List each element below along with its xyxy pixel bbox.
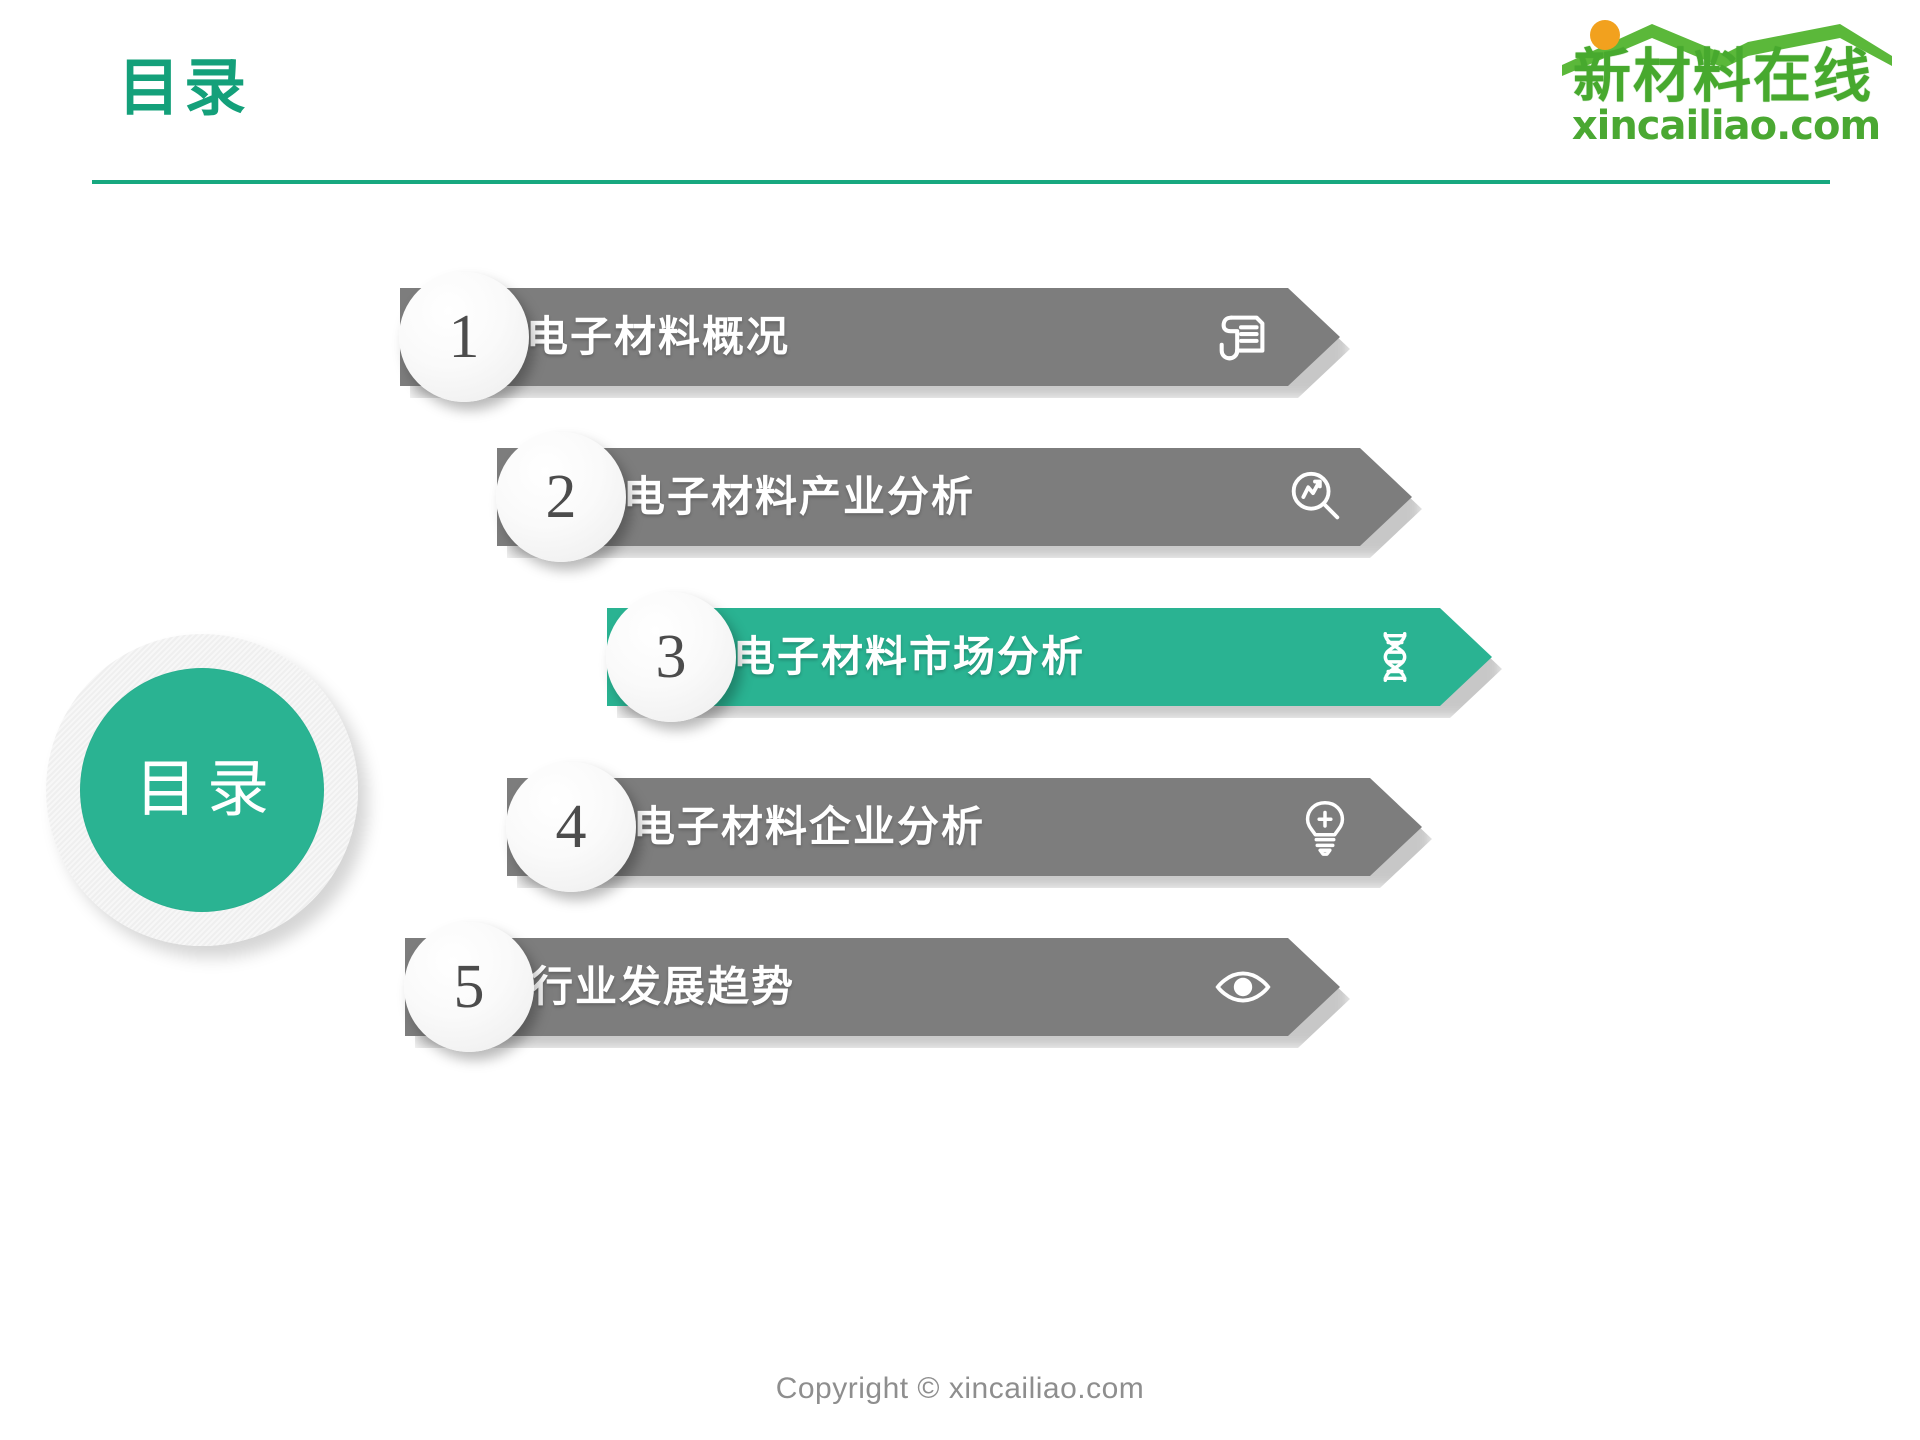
toc-item-bar[interactable]: 行业发展趋势 xyxy=(405,938,1340,1036)
toc-item-3[interactable]: 电子材料市场分析 3 xyxy=(607,608,1492,706)
toc-item-5[interactable]: 行业发展趋势 5 xyxy=(405,938,1340,1036)
lightbulb-icon xyxy=(1294,796,1356,858)
toc-item-label: 电子材料市场分析 xyxy=(733,636,1085,678)
toc-item-bar[interactable]: 电子材料概况 xyxy=(400,288,1340,386)
page-title: 目录 xyxy=(118,58,250,120)
toc-item-number-label: 4 xyxy=(556,796,587,858)
toc-item-bar[interactable]: 电子材料企业分析 xyxy=(507,778,1422,876)
toc-item-bar-active[interactable]: 电子材料市场分析 xyxy=(607,608,1492,706)
toc-badge: 目录 xyxy=(46,634,358,946)
toc-item-number-label: 2 xyxy=(546,466,577,528)
toc-item-2[interactable]: 电子材料产业分析 2 xyxy=(497,448,1412,546)
toc-item-4[interactable]: 电子材料企业分析 4 xyxy=(507,778,1422,876)
toc-item-label: 电子材料概况 xyxy=(526,316,790,358)
toc-item-number[interactable]: 4 xyxy=(506,762,636,892)
toc-item-label: 行业发展趋势 xyxy=(531,966,795,1008)
logo-brand-url: xincailiao.com xyxy=(1554,106,1898,146)
toc-badge-inner: 目录 xyxy=(80,668,324,912)
toc-item-number[interactable]: 5 xyxy=(404,922,534,1052)
footer-copyright: Copyright © xincailiao.com xyxy=(0,1372,1920,1406)
eye-icon xyxy=(1212,956,1274,1018)
toc-item-bar[interactable]: 电子材料产业分析 xyxy=(497,448,1412,546)
toc-item-number-label: 1 xyxy=(449,306,480,368)
xincailiao-logo: 新材料在线 xincailiao.com xyxy=(1548,10,1898,150)
dna-helix-icon xyxy=(1364,626,1426,688)
toc-item-number-label: 5 xyxy=(454,956,485,1018)
toc-item-number[interactable]: 2 xyxy=(496,432,626,562)
toc-badge-label: 目录 xyxy=(125,759,279,821)
toc-item-1[interactable]: 电子材料概况 1 xyxy=(400,288,1340,386)
toc-item-label: 电子材料产业分析 xyxy=(623,476,975,518)
header-divider xyxy=(92,180,1830,184)
magnifier-chart-icon xyxy=(1284,466,1346,528)
toc-item-label: 电子材料企业分析 xyxy=(633,806,985,848)
toc-item-number[interactable]: 3 xyxy=(606,592,736,722)
toc-item-number-label: 3 xyxy=(656,626,687,688)
logo-brand-cn: 新材料在线 xyxy=(1548,48,1898,106)
scroll-icon xyxy=(1212,306,1274,368)
toc-item-number[interactable]: 1 xyxy=(399,272,529,402)
